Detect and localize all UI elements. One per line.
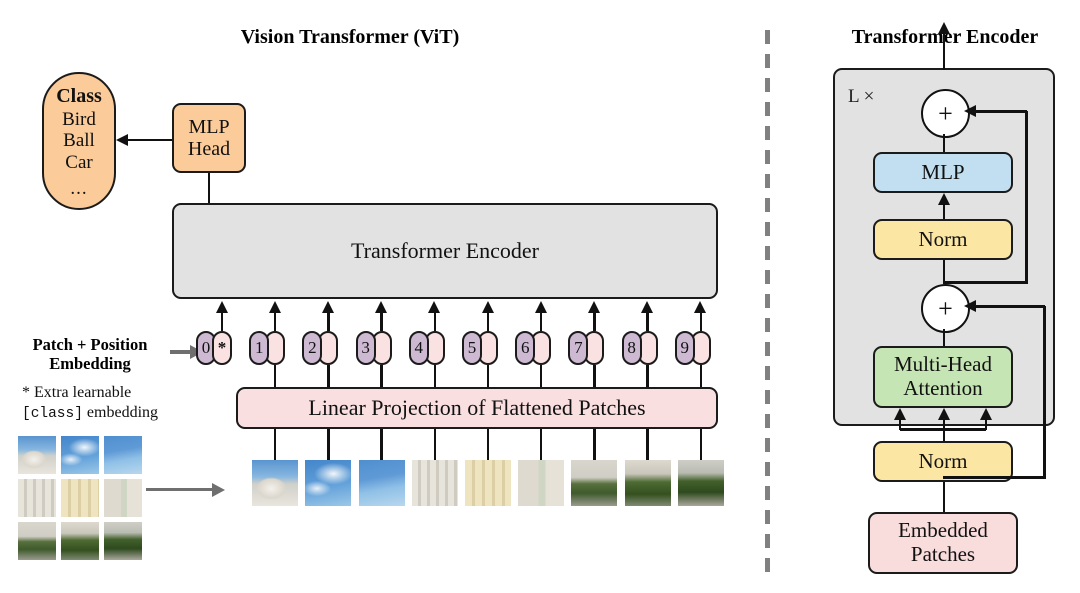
patch-to-projection-wire	[434, 429, 437, 460]
token-chip[interactable]: 9	[675, 331, 711, 365]
token-to-encoder-wire	[646, 313, 649, 331]
projection-to-token-wire	[380, 365, 383, 387]
qkv-arrowhead-right	[980, 408, 992, 420]
patch-to-projection-wire	[327, 429, 330, 460]
add-symbol-bottom: +	[938, 296, 953, 322]
grid-to-patches-wire	[146, 488, 214, 491]
flattened-patch-thumbnail	[465, 460, 511, 506]
linear-projection-bar: Linear Projection of Flattened Patches	[236, 387, 718, 429]
residual-skip-top-vertical	[1025, 111, 1028, 283]
source-image-patch	[104, 436, 142, 474]
token-position-embedding: 5	[462, 331, 482, 365]
attention-line2: Attention	[903, 377, 982, 401]
attention-to-add-bottom-wire	[943, 329, 946, 347]
class-token-patch-embedding: *	[212, 331, 232, 365]
source-image-patch	[61, 479, 99, 517]
multi-head-attention-block: Multi-Head Attention	[873, 346, 1013, 408]
footnote-line2: [class] embedding	[22, 403, 192, 423]
class-token-literal: [class]	[22, 406, 83, 422]
token-to-encoder-arrowhead	[482, 301, 494, 313]
projection-to-token-wire	[593, 365, 596, 387]
norm-block-top: Norm	[873, 219, 1013, 260]
panel-divider	[765, 30, 770, 580]
token-position-embedding: 7	[568, 331, 588, 365]
norm-bottom-label: Norm	[919, 450, 968, 474]
token-position-embedding: 1	[249, 331, 269, 365]
token-to-encoder-wire	[221, 313, 224, 331]
token-to-encoder-arrowhead	[269, 301, 281, 313]
qkv-left-stem	[899, 420, 902, 430]
patch-to-projection-wire	[593, 429, 596, 460]
patch-to-projection-wire	[380, 429, 383, 460]
source-image-patch	[61, 436, 99, 474]
patch-position-pointer-wire	[170, 350, 192, 354]
projection-to-token-wire	[327, 365, 330, 387]
patch-position-line2: Embedding	[10, 355, 170, 374]
flattened-patch-thumbnail	[412, 460, 458, 506]
patch-position-embedding-label: Patch + Position Embedding	[10, 336, 170, 374]
flattened-patch-thumbnail	[518, 460, 564, 506]
mlp-head-line1: MLP	[188, 116, 229, 138]
source-image-patch	[18, 436, 56, 474]
flattened-patch-thumbnail	[305, 460, 351, 506]
token-to-encoder-arrowhead	[588, 301, 600, 313]
flattened-patch-thumbnail	[359, 460, 405, 506]
patch-to-projection-wire	[540, 429, 543, 460]
class-box-heading: Class	[56, 85, 102, 107]
qkv-arrowhead-center	[938, 408, 950, 420]
mlp-head-box: MLP Head	[172, 103, 246, 173]
class-output-box: Class Bird Ball Car ...	[42, 72, 116, 210]
token-to-encoder-arrowhead	[535, 301, 547, 313]
token-to-encoder-arrowhead	[641, 301, 653, 313]
mlp-head-to-encoder-wire	[208, 173, 211, 205]
token-chip[interactable]: 0*	[196, 331, 232, 365]
projection-to-token-wire	[700, 365, 703, 387]
token-position-embedding: 8	[622, 331, 642, 365]
source-image-patch	[18, 479, 56, 517]
encoder-output-arrowhead	[938, 22, 950, 34]
mlp-to-class-wire	[126, 139, 172, 142]
token-chip[interactable]: 2	[302, 331, 338, 365]
residual-skip-top-inlet	[975, 110, 1027, 113]
residual-skip-bottom-vertical	[1043, 306, 1046, 478]
projection-to-token-wire	[434, 365, 437, 387]
add-symbol-top: +	[938, 101, 953, 127]
mlp-to-add-top-wire	[943, 134, 946, 153]
residual-add-node-bottom: +	[921, 284, 970, 333]
token-position-embedding: 6	[515, 331, 535, 365]
vit-architecture-figure: Vision Transformer (ViT) Transformer Enc…	[0, 0, 1080, 593]
token-chip[interactable]: 4	[409, 331, 445, 365]
token-chip[interactable]: 3	[356, 331, 392, 365]
residual-skip-bottom-arrowhead	[964, 300, 976, 312]
token-to-encoder-arrowhead	[375, 301, 387, 313]
mlp-block-label: MLP	[921, 161, 964, 185]
projection-to-token-wire	[274, 365, 277, 387]
left-panel-title: Vision Transformer (ViT)	[200, 26, 500, 49]
qkv-right-stem	[985, 420, 988, 430]
token-to-encoder-wire	[487, 313, 490, 331]
token-to-encoder-arrowhead	[694, 301, 706, 313]
token-to-encoder-wire	[700, 313, 703, 331]
token-position-embedding: 4	[409, 331, 429, 365]
mlp-to-class-arrowhead	[116, 134, 128, 146]
token-chip[interactable]: 7	[568, 331, 604, 365]
class-token-footnote: * Extra learnable [class] embedding	[22, 383, 192, 423]
flattened-patch-thumbnail	[625, 460, 671, 506]
transformer-encoder-bar-label: Transformer Encoder	[351, 239, 539, 264]
repeat-count-label: L ×	[848, 86, 874, 108]
token-chip[interactable]: 5	[462, 331, 498, 365]
token-to-encoder-arrowhead	[322, 301, 334, 313]
mlp-head-line2: Head	[188, 138, 230, 160]
patch-position-line1: Patch + Position	[10, 336, 170, 355]
patch-to-projection-wire	[646, 429, 649, 460]
token-to-encoder-wire	[380, 313, 383, 331]
norm-top-to-mlp-wire	[943, 205, 946, 219]
encoder-output-wire	[943, 28, 946, 70]
projection-to-token-wire	[487, 365, 490, 387]
patch-to-projection-wire	[274, 429, 277, 460]
mlp-block: MLP	[873, 152, 1013, 193]
flattened-patch-thumbnail	[571, 460, 617, 506]
patch-to-projection-wire	[700, 429, 703, 460]
token-chip[interactable]: 8	[622, 331, 658, 365]
grid-to-patches-arrowhead	[212, 483, 225, 497]
flattened-patch-thumbnail	[678, 460, 724, 506]
norm-top-to-mlp-arrowhead	[938, 193, 950, 205]
residual-skip-top-arrowhead	[964, 105, 976, 117]
projection-to-token-wire	[646, 365, 649, 387]
footnote-line2-rest: embedding	[83, 404, 158, 421]
embedded-patches-line1: Embedded	[898, 519, 988, 543]
projection-to-token-wire	[540, 365, 543, 387]
footnote-line1: * Extra learnable	[22, 383, 192, 403]
source-image-patch	[61, 522, 99, 560]
embedded-patches-block: Embedded Patches	[868, 512, 1018, 574]
token-to-encoder-wire	[327, 313, 330, 331]
class-ellipsis: ...	[70, 178, 87, 199]
norm-top-label: Norm	[919, 228, 968, 252]
transformer-encoder-bar: Transformer Encoder	[172, 203, 718, 299]
token-to-encoder-arrowhead	[428, 301, 440, 313]
embedded-patches-line2: Patches	[911, 543, 975, 567]
token-position-embedding: 9	[675, 331, 695, 365]
qkv-center-stem	[943, 420, 946, 442]
linear-projection-label: Linear Projection of Flattened Patches	[308, 396, 645, 421]
class-item-bird: Bird	[62, 109, 96, 131]
residual-skip-bottom-horizontal	[943, 476, 1046, 479]
token-to-encoder-wire	[274, 313, 277, 331]
token-to-encoder-arrowhead	[216, 301, 228, 313]
token-chip[interactable]: 1	[249, 331, 285, 365]
class-item-car: Car	[65, 152, 92, 174]
attention-line1: Multi-Head	[894, 353, 992, 377]
residual-skip-bottom-inlet	[975, 305, 1045, 308]
token-position-embedding: 2	[302, 331, 322, 365]
residual-add-node-top: +	[921, 89, 970, 138]
token-to-encoder-wire	[540, 313, 543, 331]
source-image-patch	[18, 522, 56, 560]
flattened-patch-thumbnail	[252, 460, 298, 506]
residual-skip-top-horizontal	[943, 281, 1028, 284]
class-item-ball: Ball	[63, 130, 95, 152]
source-image-patch	[104, 479, 142, 517]
patch-to-projection-wire	[487, 429, 490, 460]
source-image-patch	[104, 522, 142, 560]
token-to-encoder-wire	[434, 313, 437, 331]
qkv-arrowhead-left	[894, 408, 906, 420]
token-chip[interactable]: 6	[515, 331, 551, 365]
token-to-encoder-wire	[593, 313, 596, 331]
token-position-embedding: 3	[356, 331, 376, 365]
